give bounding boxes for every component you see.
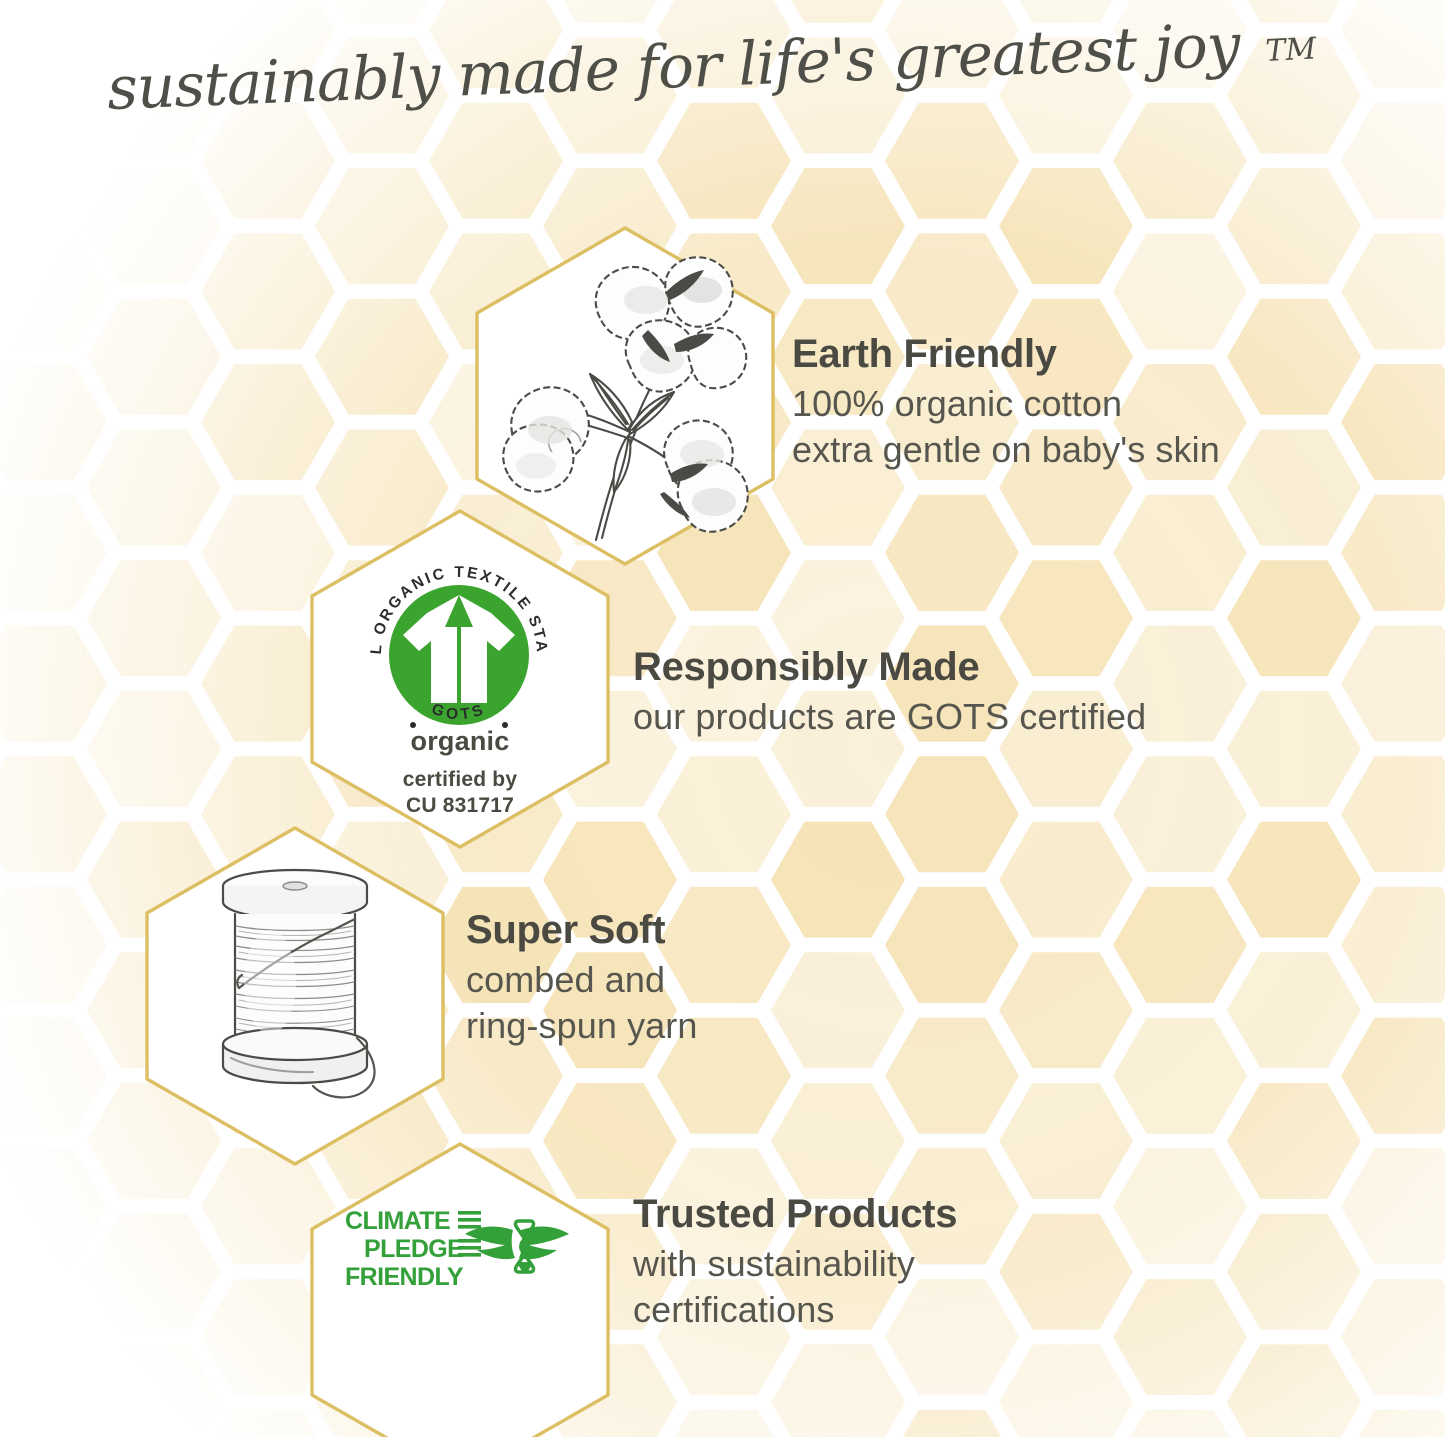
honeycomb-cell <box>1227 691 1361 807</box>
honeycomb-cell <box>0 1148 107 1264</box>
honeycomb-cell <box>1341 756 1445 872</box>
honeycomb-cell <box>1227 299 1361 415</box>
honeycomb-cell <box>999 168 1133 284</box>
honeycomb-cell <box>999 952 1133 1068</box>
honeycomb-cell <box>771 952 905 1068</box>
honeycomb-cell <box>1113 495 1247 611</box>
honeycomb-cell <box>1227 1083 1361 1199</box>
feature-line: 100% organic cotton <box>792 381 1220 427</box>
honeycomb-cell <box>885 887 1019 1003</box>
honeycomb-cell <box>1113 887 1247 1003</box>
honeycomb-cell <box>1113 1279 1247 1395</box>
honeycomb-cell <box>315 0 449 23</box>
feature-title: Trusted Products <box>633 1192 957 1237</box>
honeycomb-cell <box>1341 887 1445 1003</box>
honeycomb-cell <box>1227 952 1361 1068</box>
honeycomb-cell <box>885 756 1019 872</box>
honeycomb-cell <box>885 1018 1019 1134</box>
feature-line: certifications <box>633 1287 957 1333</box>
honeycomb-cell <box>1113 1018 1247 1134</box>
honeycomb-cell <box>1113 1148 1247 1264</box>
cpf-line-3: FRIENDLY <box>345 1263 464 1291</box>
honeycomb-cell <box>0 233 107 349</box>
feature-line: extra gentle on baby's skin <box>792 427 1220 473</box>
honeycomb-cell <box>87 168 221 284</box>
honeycomb-cell <box>87 1214 221 1330</box>
honeycomb-cell <box>1341 1018 1445 1134</box>
trademark-symbol: TM <box>1264 31 1318 69</box>
honeycomb-cell <box>771 822 905 938</box>
honeycomb-cell <box>87 299 221 415</box>
honeycomb-cell <box>201 233 335 349</box>
honeycomb-cell <box>0 887 107 1003</box>
honeycomb-cell <box>0 1279 107 1395</box>
honeycomb-cell <box>315 168 449 284</box>
honeycomb-cell <box>885 1410 1019 1437</box>
cotton-branch-illustration <box>478 252 776 549</box>
feature-line: combed and <box>466 957 698 1003</box>
honeycomb-cell <box>0 1410 107 1437</box>
feature-title: Earth Friendly <box>792 332 1220 377</box>
honeycomb-cell <box>1341 495 1445 611</box>
cotton-boll <box>503 387 589 491</box>
gots-organic-label: organic <box>300 726 620 757</box>
cotton-boll <box>596 257 747 391</box>
honeycomb-cell <box>0 1018 107 1134</box>
gots-certificate-code: CU 831717 <box>300 793 620 819</box>
honeycomb-cell <box>315 299 449 415</box>
honeycomb-cell <box>0 364 107 480</box>
honeycomb-cell <box>657 1410 791 1437</box>
honeycomb-cell <box>1227 1344 1361 1437</box>
feature-text-trusted-products: Trusted Products with sustainability cer… <box>633 1192 957 1333</box>
cpf-line-1: CLIMATE <box>345 1207 450 1235</box>
honeycomb-cell <box>999 1083 1133 1199</box>
honeycomb-cell <box>1227 430 1361 546</box>
honeycomb-cell <box>1341 626 1445 742</box>
honeycomb-cell <box>771 0 905 23</box>
honeycomb-cell <box>87 430 221 546</box>
cotton-boll <box>660 420 748 531</box>
honeycomb-cell <box>87 560 221 676</box>
climate-pledge-friendly-logo: CLIMATE PLEDGE FRIENDLY <box>345 1204 575 1309</box>
honeycomb-cell <box>771 1083 905 1199</box>
feature-line: our products are GOTS certified <box>633 694 1146 740</box>
honeycomb-cell <box>0 626 107 742</box>
feature-title: Responsibly Made <box>633 645 1146 690</box>
headline-script: sustainably made for life's greatest joy <box>105 23 1242 124</box>
honeycomb-cell <box>1227 822 1361 938</box>
honeycomb-cell <box>0 756 107 872</box>
honeycomb-cell <box>87 0 221 23</box>
honeycomb-cell <box>87 1344 221 1437</box>
honeycomb-cell <box>1113 1410 1247 1437</box>
wing-right <box>519 1227 569 1260</box>
infographic-canvas: sustainably made for life's greatest joy… <box>0 0 1445 1437</box>
honeycomb-cell <box>543 0 677 23</box>
honeycomb-cell <box>1341 1148 1445 1264</box>
honeycomb-cell <box>1341 364 1445 480</box>
honeycomb-cell <box>1341 1410 1445 1437</box>
honeycomb-cell <box>771 168 905 284</box>
cpf-line-2: PLEDGE <box>364 1235 463 1263</box>
honeycomb-cell <box>1227 1214 1361 1330</box>
gots-caption: organic certified by CU 831717 <box>300 726 620 820</box>
gots-certified-by-label: certified by <box>300 767 620 793</box>
honeycomb-cell <box>771 1344 905 1437</box>
feature-line: ring-spun yarn <box>466 1003 698 1049</box>
honeycomb-cell <box>999 0 1133 23</box>
honeycomb-cell <box>657 756 791 872</box>
honeycomb-cell <box>999 1344 1133 1437</box>
feature-text-earth-friendly: Earth Friendly 100% organic cotton extra… <box>792 332 1220 473</box>
honeycomb-cell <box>1341 233 1445 349</box>
honeycomb-cell <box>1113 756 1247 872</box>
headline: sustainably made for life's greatest joy… <box>0 22 1445 142</box>
feature-title: Super Soft <box>466 908 698 953</box>
honeycomb-cell <box>885 495 1019 611</box>
feature-text-super-soft: Super Soft combed and ring-spun yarn <box>466 908 698 1049</box>
honeycomb-cell <box>999 822 1133 938</box>
feature-line: with sustainability <box>633 1241 957 1287</box>
honeycomb-cell <box>1227 560 1361 676</box>
thread-spool-illustration <box>195 862 405 1107</box>
gots-green-circle <box>389 585 529 725</box>
feature-text-responsibly-made: Responsibly Made our products are GOTS c… <box>633 645 1146 740</box>
honeycomb-cell <box>1227 168 1361 284</box>
honeycomb-cell <box>201 364 335 480</box>
honeycomb-cell <box>1341 1279 1445 1395</box>
honeycomb-cell <box>1227 0 1361 23</box>
honeycomb-cell <box>999 1214 1133 1330</box>
honeycomb-cell <box>87 691 221 807</box>
honeycomb-cell <box>0 495 107 611</box>
